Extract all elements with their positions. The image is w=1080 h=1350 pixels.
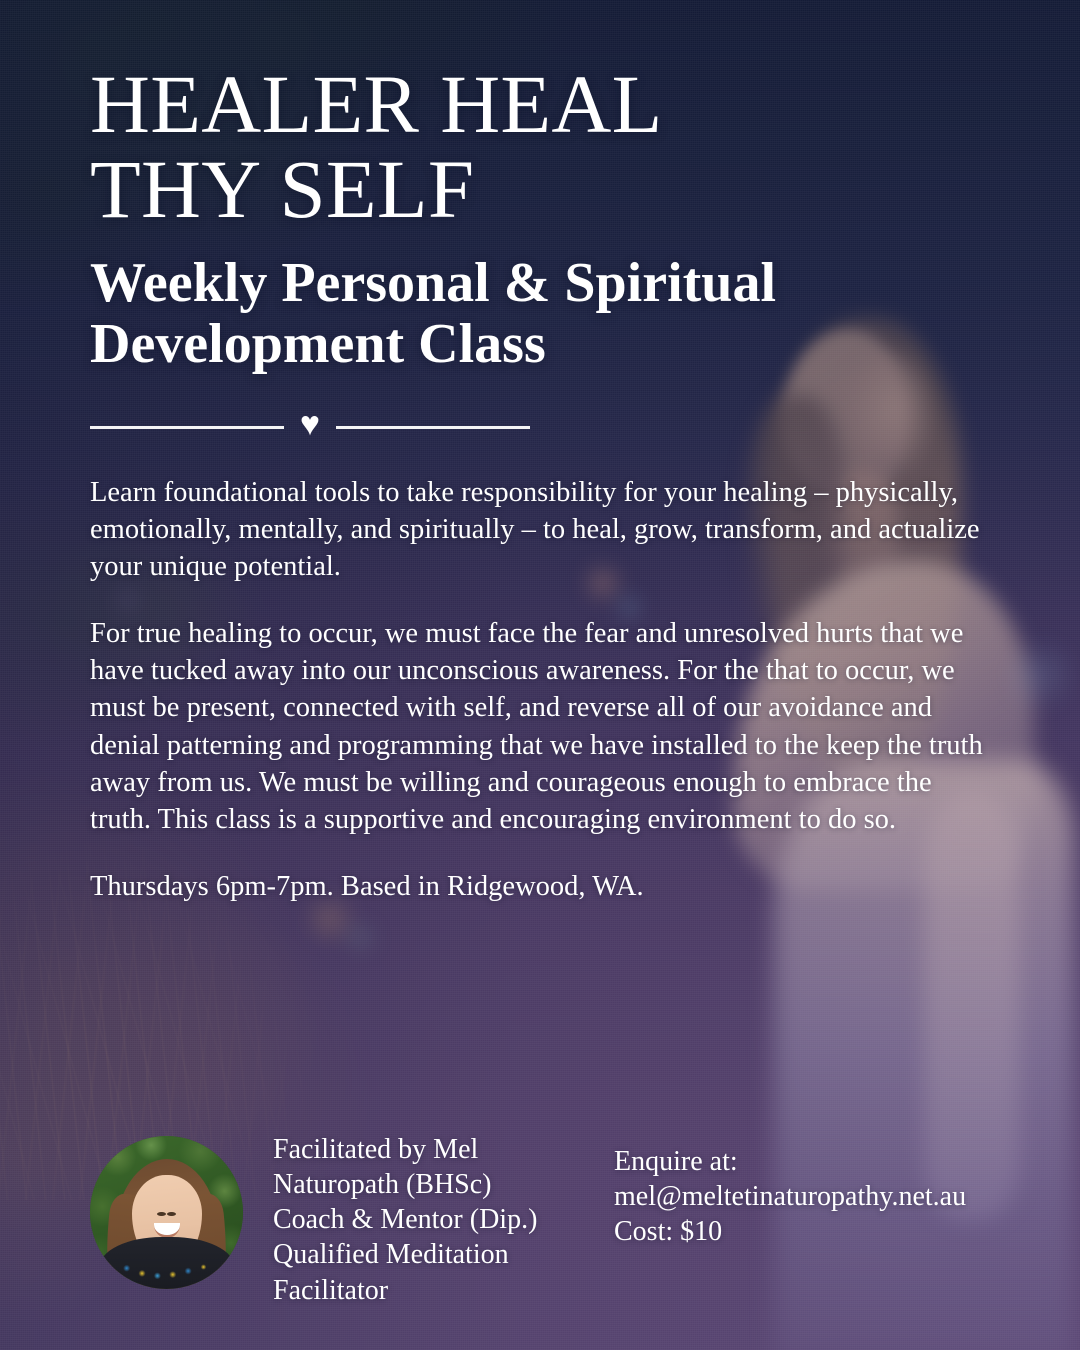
avatar-eye-left [157, 1212, 166, 1216]
poster-canvas: HEALER HEAL THY SELF Weekly Personal & S… [0, 0, 1080, 1350]
facilitator-block: Facilitated by Mel Naturopath (BHSc) Coa… [90, 1132, 590, 1308]
ornamental-divider: ♥ [90, 410, 530, 444]
avatar-floral-necklace [119, 1259, 215, 1279]
divider-rule-left [90, 426, 284, 429]
page-subtitle: Weekly Personal & Spiritual Development … [90, 253, 990, 374]
avatar [90, 1136, 243, 1289]
heart-icon: ♥ [300, 408, 320, 442]
poster-content: HEALER HEAL THY SELF Weekly Personal & S… [0, 0, 1080, 905]
facilitator-credentials: Facilitated by Mel Naturopath (BHSc) Coa… [273, 1132, 537, 1308]
paragraph-detail: For true healing to occur, we must face … [90, 615, 990, 837]
paragraph-intro: Learn foundational tools to take respons… [90, 474, 990, 585]
paragraph-schedule: Thursdays 6pm-7pm. Based in Ridgewood, W… [90, 868, 990, 905]
enquiry-details: Enquire at: mel@meltetinaturopathy.net.a… [614, 1132, 966, 1250]
avatar-eye-right [167, 1212, 176, 1216]
poster-footer: Facilitated by Mel Naturopath (BHSc) Coa… [0, 1132, 1080, 1308]
page-title: HEALER HEAL THY SELF [90, 0, 990, 231]
divider-rule-right [336, 426, 530, 429]
body-copy: Learn foundational tools to take respons… [90, 474, 990, 904]
